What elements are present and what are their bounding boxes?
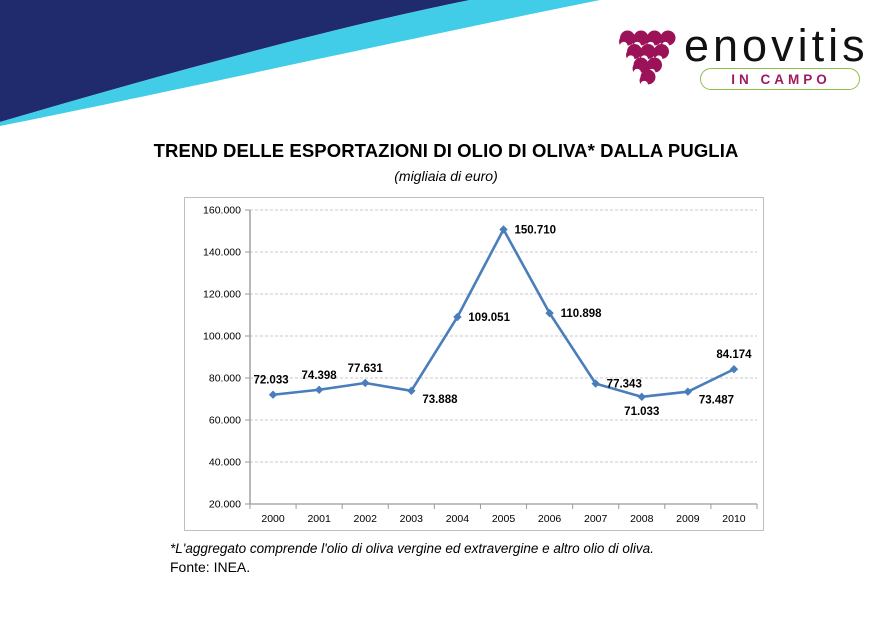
footnote: *L'aggregato comprende l'olio di oliva v… bbox=[170, 540, 790, 577]
svg-text:2005: 2005 bbox=[492, 513, 516, 525]
svg-text:84.174: 84.174 bbox=[716, 349, 752, 361]
svg-text:2007: 2007 bbox=[584, 513, 608, 525]
svg-text:110.898: 110.898 bbox=[561, 308, 603, 320]
svg-text:74.398: 74.398 bbox=[302, 370, 338, 382]
svg-text:109.051: 109.051 bbox=[468, 312, 510, 324]
svg-text:150.710: 150.710 bbox=[515, 225, 557, 237]
ribbon-cyan-band bbox=[0, 0, 600, 126]
svg-text:80.000: 80.000 bbox=[209, 373, 241, 385]
chart-container: 20.00040.00060.00080.000100.000120.00014… bbox=[184, 197, 764, 531]
page-subtitle: (migliaia di euro) bbox=[0, 168, 892, 184]
svg-text:71.033: 71.033 bbox=[624, 406, 659, 418]
svg-text:20.000: 20.000 bbox=[209, 499, 241, 511]
svg-text:2008: 2008 bbox=[630, 513, 654, 525]
svg-text:2000: 2000 bbox=[261, 513, 285, 525]
svg-text:120.000: 120.000 bbox=[203, 289, 241, 301]
svg-text:2004: 2004 bbox=[446, 513, 470, 525]
grape-cluster-icon bbox=[614, 24, 676, 86]
svg-text:2002: 2002 bbox=[354, 513, 378, 525]
brand-badge-outline: IN CAMPO bbox=[700, 68, 860, 90]
chart-gridlines bbox=[250, 210, 757, 504]
brand-wordmark: enovitis bbox=[684, 20, 869, 72]
svg-text:2009: 2009 bbox=[676, 513, 700, 525]
svg-text:73.888: 73.888 bbox=[422, 394, 458, 406]
svg-text:60.000: 60.000 bbox=[209, 415, 241, 427]
svg-text:2001: 2001 bbox=[307, 513, 331, 525]
svg-text:2006: 2006 bbox=[538, 513, 562, 525]
svg-text:100.000: 100.000 bbox=[203, 331, 241, 343]
footnote-source: Fonte: INEA. bbox=[170, 558, 790, 577]
svg-text:77.631: 77.631 bbox=[348, 363, 384, 375]
svg-text:72.033: 72.033 bbox=[253, 375, 288, 387]
footnote-note: *L'aggregato comprende l'olio di oliva v… bbox=[170, 540, 790, 558]
page-title: TREND DELLE ESPORTAZIONI DI OLIO DI OLIV… bbox=[0, 140, 892, 162]
brand-logo: enovitis IN CAMPO bbox=[608, 22, 870, 92]
svg-text:73.487: 73.487 bbox=[699, 395, 734, 407]
svg-text:40.000: 40.000 bbox=[209, 457, 241, 469]
svg-text:140.000: 140.000 bbox=[203, 247, 241, 259]
svg-text:2010: 2010 bbox=[722, 513, 746, 525]
ribbon-navy-band bbox=[0, 0, 470, 122]
brand-badge-label: IN CAMPO bbox=[701, 69, 861, 91]
svg-text:160.000: 160.000 bbox=[203, 205, 241, 217]
svg-text:2003: 2003 bbox=[400, 513, 424, 525]
chart-x-axis: 2000200120022003200420052006200720082009… bbox=[250, 504, 757, 525]
svg-text:77.343: 77.343 bbox=[607, 379, 642, 391]
chart-y-axis: 20.00040.00060.00080.000100.000120.00014… bbox=[203, 205, 250, 511]
